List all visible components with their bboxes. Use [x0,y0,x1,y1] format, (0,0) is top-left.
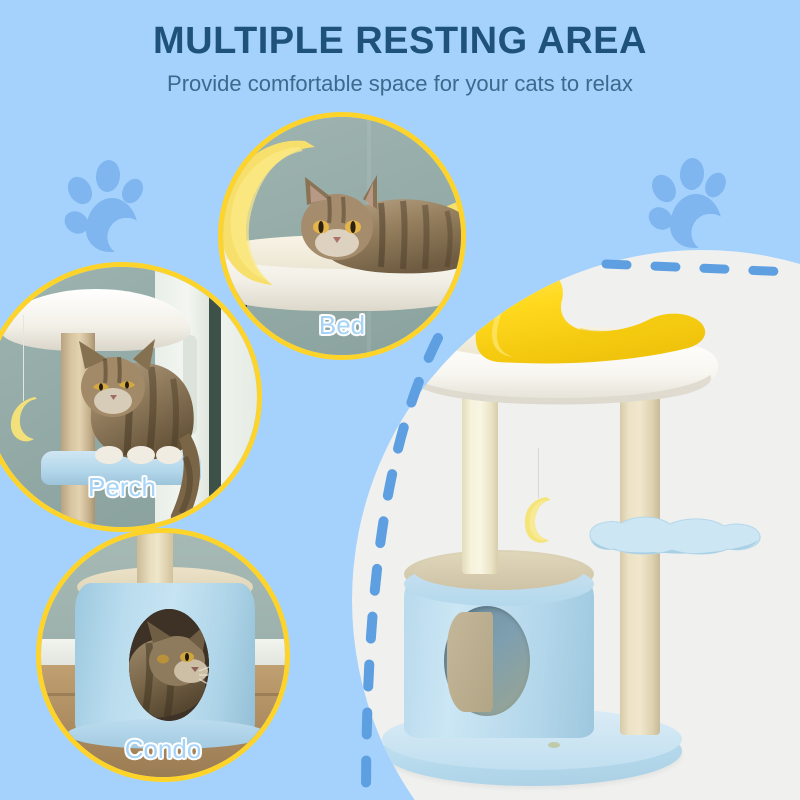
sisal-post [137,533,173,589]
yellow-moon-cushion [452,262,742,370]
base-screw-hole [548,742,560,748]
paw-print-icon [66,160,144,252]
moon-toy-icon [520,494,554,546]
cloud-perch-shelf [584,512,764,558]
hanging-moon-toy [7,395,41,443]
cat [129,609,209,721]
callout-label-perch: Perch [0,472,257,503]
condo-top-surface [414,552,584,590]
callout-condo[interactable]: Condo [36,528,290,782]
header: MULTIPLE RESTING AREA Provide comfortabl… [0,0,800,95]
moon-cushion-icon [452,262,742,370]
condo-entrance-inner [447,612,493,712]
callout-label-bed: Bed [223,310,461,341]
page-subtitle: Provide comfortable space for your cats … [0,73,800,95]
callout-bed[interactable]: Bed [218,112,466,360]
page-title: MULTIPLE RESTING AREA [0,22,800,60]
cat [285,169,461,281]
infographic-canvas: MULTIPLE RESTING AREA Provide comfortabl… [0,0,800,800]
cloud-perch-icon [584,512,764,558]
callout-label-condo: Condo [41,734,285,765]
hanging-moon-toy [520,494,554,546]
hanging-toy-string [538,448,539,498]
paw-print-icon [648,158,726,248]
callout-perch[interactable]: Perch [0,262,262,532]
